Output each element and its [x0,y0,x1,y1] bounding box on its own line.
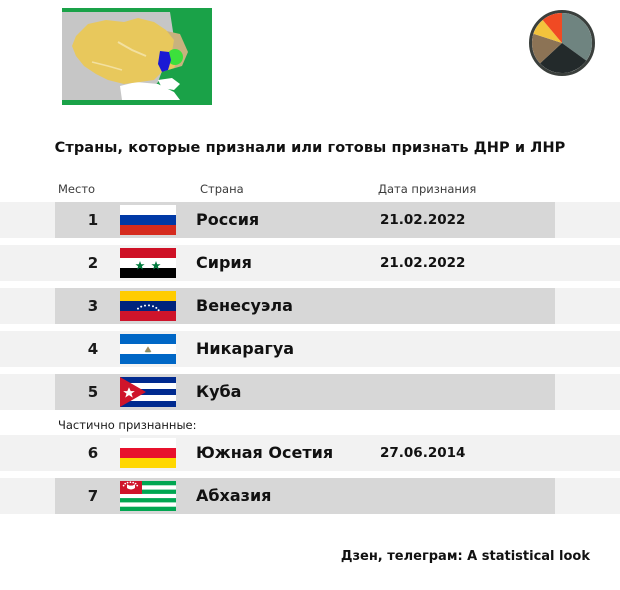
flag-syria [120,248,176,278]
table-row: 5 Куба [0,374,620,410]
row-rank: 1 [78,202,108,238]
table-row: 7 Абхазия [0,478,620,514]
row-country: Венесуэла [196,288,293,324]
table-row: 2 Сирия 21.02.2022 [0,245,620,281]
row-country: Россия [196,202,259,238]
row-rank: 6 [78,435,108,471]
row-rank: 2 [78,245,108,281]
table-column-headers: Место Страна Дата признания [0,178,620,202]
column-header-country: Страна [200,182,244,196]
table-row: 3 Венесуэла [0,288,620,324]
row-country: Сирия [196,245,252,281]
table-row: 4 Никарагуа [0,331,620,367]
row-date: 21.02.2022 [380,245,465,281]
partially-recognized-subheading: Частично признанные: [0,417,620,435]
row-rank: 3 [78,288,108,324]
pie-chart-illustration [528,8,596,78]
table-row: 6 Южная Осетия 27.06.2014 [0,435,620,471]
page-title: Страны, которые признали или готовы приз… [0,140,620,156]
row-rank: 5 [78,374,108,410]
flag-nicaragua [120,334,176,364]
row-date: 21.02.2022 [380,202,465,238]
row-rank: 7 [78,478,108,514]
map-illustration [62,8,212,105]
row-date: 27.06.2014 [380,435,465,471]
flag-venezuela [120,291,176,321]
flag-russia [120,205,176,235]
flag-cuba [120,377,176,407]
row-rank: 4 [78,331,108,367]
flag-south-ossetia [120,438,176,468]
recognition-table: Место Страна Дата признания 1 Россия 21.… [0,178,620,521]
row-country: Никарагуа [196,331,294,367]
row-country: Абхазия [196,478,271,514]
decorative-pie-chart [528,8,596,78]
column-header-date: Дата признания [378,182,476,196]
flag-abkhazia [120,481,176,511]
table-row: 1 Россия 21.02.2022 [0,202,620,238]
footer-credit: Дзен, телеграм: A statistical look [0,549,590,564]
top-graphics-area [0,0,620,120]
ukraine-donbas-map [62,8,212,105]
column-header-rank: Место [58,182,95,196]
row-country: Южная Осетия [196,435,333,471]
row-country: Куба [196,374,241,410]
